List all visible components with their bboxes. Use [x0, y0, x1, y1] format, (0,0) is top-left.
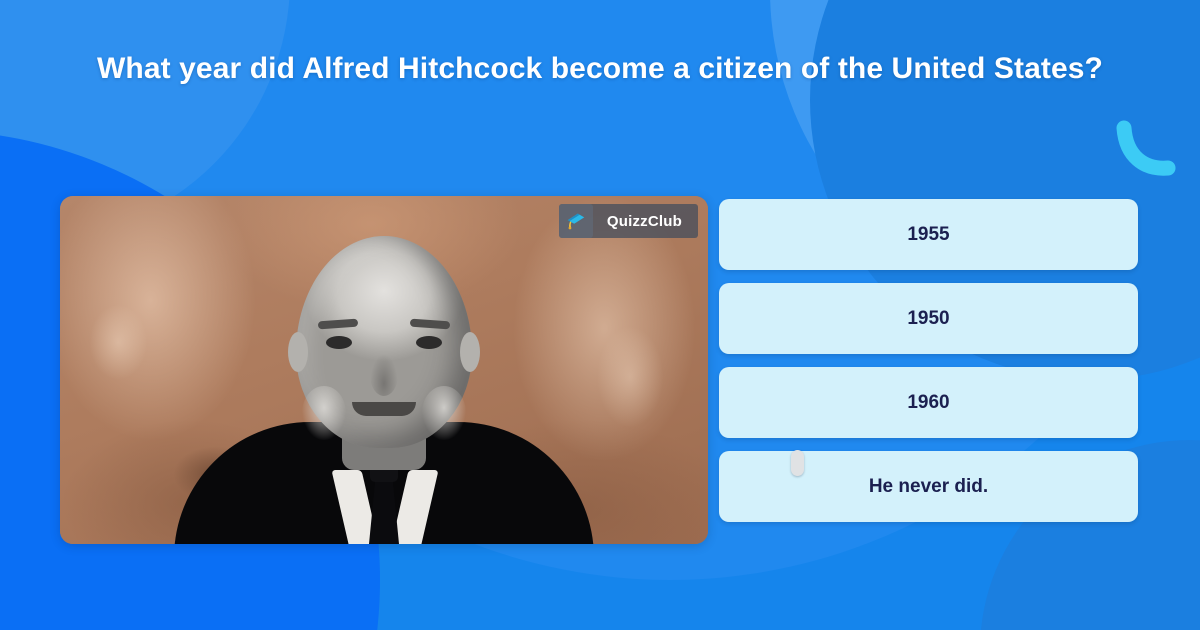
eye-left [326, 336, 352, 349]
answer-option[interactable]: 1950 [719, 283, 1138, 354]
cheek-left [302, 386, 346, 440]
eye-right [416, 336, 442, 349]
question-image: QuizzClub [60, 196, 708, 544]
answer-option[interactable]: 1960 [719, 367, 1138, 438]
answer-option[interactable]: 1955 [719, 199, 1138, 270]
head-shape [296, 236, 472, 448]
portrait-illustration [60, 196, 708, 544]
scroll-indicator-pip[interactable] [791, 450, 804, 476]
cyan-arc-icon [1114, 120, 1178, 178]
answer-option[interactable]: He never did. [719, 451, 1138, 522]
graduation-cap-icon [559, 204, 593, 238]
nose-shape [370, 354, 398, 396]
cheek-right [422, 386, 466, 440]
ear-right [460, 332, 480, 372]
quiz-card: What year did Alfred Hitchcock become a … [0, 0, 1200, 630]
watermark-badge: QuizzClub [559, 204, 698, 238]
eyebrow-left [318, 319, 358, 330]
watermark-brand-label: QuizzClub [593, 213, 698, 230]
mouth-shape [352, 402, 416, 416]
question-title: What year did Alfred Hitchcock become a … [60, 46, 1140, 92]
ear-left [288, 332, 308, 372]
eyebrow-right [410, 319, 450, 330]
answer-options-list: 1955 1950 1960 He never did. [719, 199, 1138, 535]
